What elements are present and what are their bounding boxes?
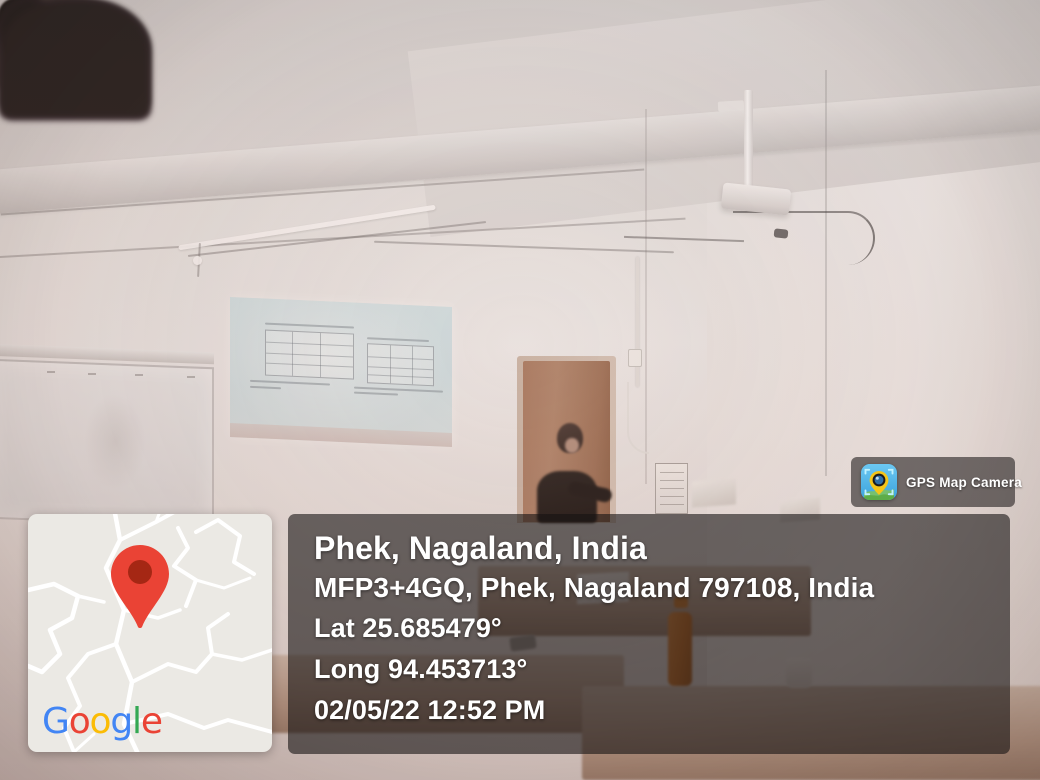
place-name: Phek, Nagaland, India bbox=[314, 530, 990, 568]
longitude-value: Long 94.453713° bbox=[314, 651, 990, 687]
latitude-value: Lat 25.685479° bbox=[314, 610, 990, 646]
app-icon-artwork bbox=[861, 464, 897, 500]
gps-map-camera-app-icon bbox=[861, 464, 897, 500]
map-thumbnail[interactable]: Google bbox=[28, 514, 272, 752]
gps-app-name: GPS Map Camera bbox=[906, 475, 1022, 490]
map-pin-icon bbox=[109, 543, 171, 629]
gps-map-camera-badge[interactable]: GPS Map Camera bbox=[851, 457, 1015, 507]
screenshot-root: Google Phek, Nagaland, India MFP3+4GQ, P… bbox=[0, 0, 1040, 780]
timestamp-value: 02/05/22 12:52 PM bbox=[314, 692, 990, 728]
gps-info-panel: Phek, Nagaland, India MFP3+4GQ, Phek, Na… bbox=[288, 514, 1010, 754]
address-line: MFP3+4GQ, Phek, Nagaland 797108, India bbox=[314, 570, 990, 605]
google-wordmark: Google bbox=[42, 704, 162, 740]
